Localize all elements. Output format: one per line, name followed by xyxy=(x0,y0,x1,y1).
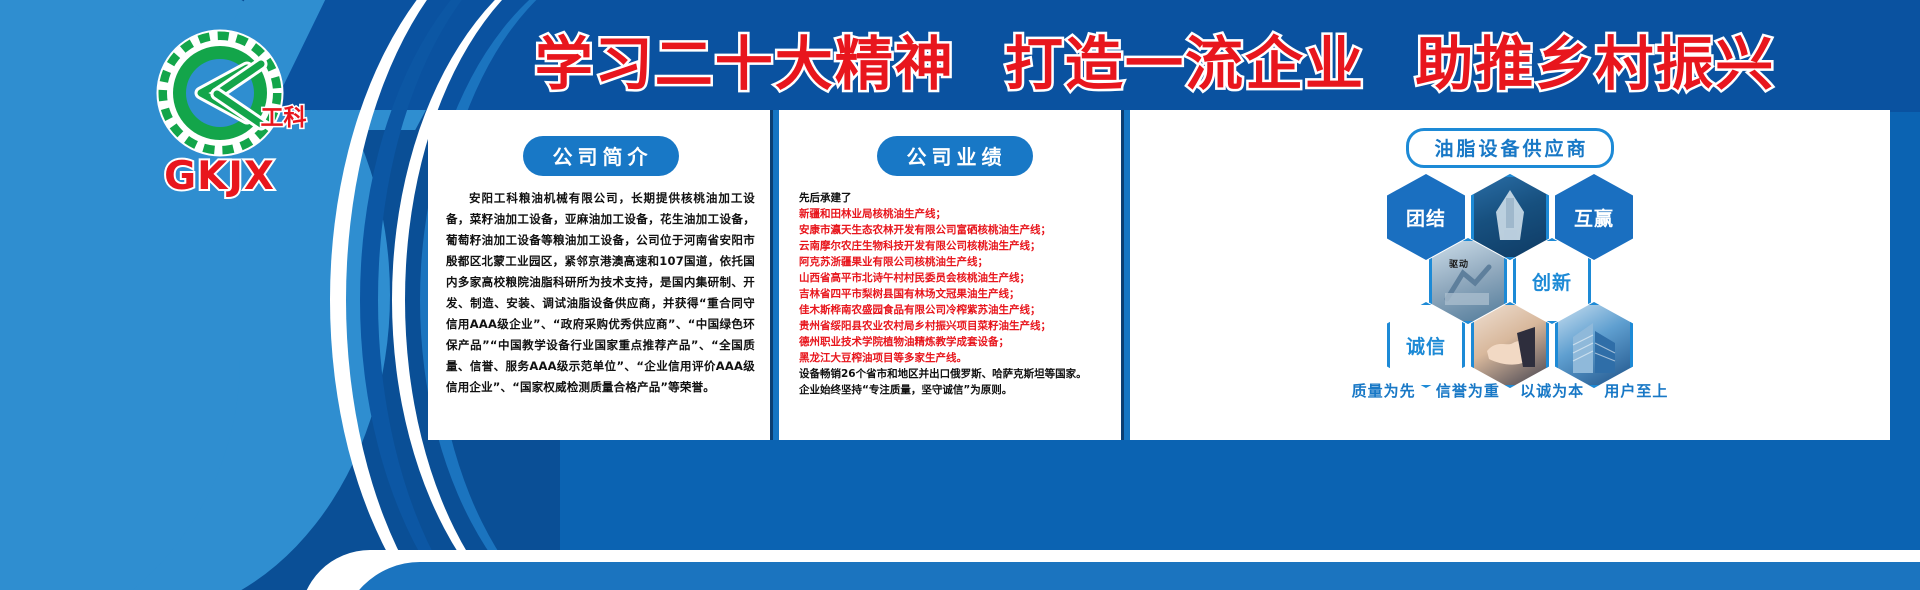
panel-heading-company-performance: 公司业绩 xyxy=(877,136,1033,176)
title-part-2: 打造一流企业 xyxy=(1005,30,1365,98)
title-part-3: 助推乡村振兴 xyxy=(1415,30,1775,98)
title-part-1: 学习二十大精神 xyxy=(535,30,955,98)
slogan-part-4: 用户至上 xyxy=(1604,382,1668,400)
performance-item: 新疆和田林业局核桃油生产线； xyxy=(799,206,1110,222)
svg-text:驱动: 驱动 xyxy=(1449,259,1469,270)
content-board: 公司简介 安阳工科粮油机械有限公司，长期提供核桃油加工设备，菜籽油加工设备，亚麻… xyxy=(428,110,1890,440)
company-logo: 工科 GKJX xyxy=(112,28,327,203)
company-profile-body: 安阳工科粮油机械有限公司，长期提供核桃油加工设备，菜籽油加工设备，亚麻油加工设备… xyxy=(446,188,755,398)
panel-heading-company-profile: 公司简介 xyxy=(523,136,679,176)
hexagon-cluster: 团结 互赢 xyxy=(1345,174,1675,374)
slogan-part-1: 质量为先 xyxy=(1352,382,1416,400)
performance-lead: 先后承建了 xyxy=(799,190,1110,206)
banner-title-text: 学习二十大精神 打造一流企业 助推乡村振兴 xyxy=(521,17,1789,101)
performance-item: 云南摩尔农庄生物科技开发有限公司核桃油生产线； xyxy=(799,238,1110,254)
panel-company-performance: 公司业绩 先后承建了 新疆和田林业局核桃油生产线； 安康市瀛天生态农林开发有限公… xyxy=(779,110,1124,440)
gear-logo-icon: 工科 xyxy=(155,28,285,158)
bottom-blue-arc xyxy=(340,562,1920,590)
slogan-part-3: 以诚为本 xyxy=(1520,382,1584,400)
performance-item: 吉林省四平市梨树县国有林场文冠果油生产线； xyxy=(799,286,1110,302)
logo-en-text: GKJX xyxy=(164,154,275,199)
performance-item: 安康市瀛天生态农林开发有限公司富硒核桃油生产线； xyxy=(799,222,1110,238)
panel-heading-supplier: 油脂设备供应商 xyxy=(1406,128,1613,168)
performance-item: 山西省高平市北诗午村村民委员会核桃油生产线； xyxy=(799,270,1110,286)
performance-tail: 设备畅销26个省市和地区并出口俄罗斯、哈萨克斯坦等国家。 xyxy=(799,366,1110,382)
performance-body: 先后承建了 新疆和田林业局核桃油生产线； 安康市瀛天生态农林开发有限公司富硒核桃… xyxy=(799,190,1110,398)
banner-title: 学习二十大精神 打造一流企业 助推乡村振兴 xyxy=(420,16,1890,102)
performance-item: 黑龙江大豆榨油项目等多家生产线。 xyxy=(799,350,1110,366)
logo-cn-text: 工科 xyxy=(261,98,307,132)
performance-item: 阿克苏浙疆果业有限公司核桃油生产线； xyxy=(799,254,1110,270)
poster-canvas: 工科 GKJX 学习二十大精神 打造一流企业 助推乡村振兴 公司简介 安阳工科粮… xyxy=(0,0,1920,590)
performance-item: 贵州省绥阳县农业农村局乡村振兴项目菜籽油生产线； xyxy=(799,318,1110,334)
performance-item: 佳木斯桦南农盛园食品有限公司冷榨紫苏油生产线； xyxy=(799,302,1110,318)
panel-company-profile: 公司简介 安阳工科粮油机械有限公司，长期提供核桃油加工设备，菜籽油加工设备，亚麻… xyxy=(428,110,773,440)
performance-tail: 企业始终坚持“专注质量，坚守诚信”为原则。 xyxy=(799,382,1110,398)
panel-supplier: 油脂设备供应商 团结 互赢 xyxy=(1130,110,1890,440)
performance-item: 德州职业技术学院植物油精炼教学成套设备； xyxy=(799,334,1110,350)
slogan-part-2: 信誉为重 xyxy=(1436,382,1500,400)
